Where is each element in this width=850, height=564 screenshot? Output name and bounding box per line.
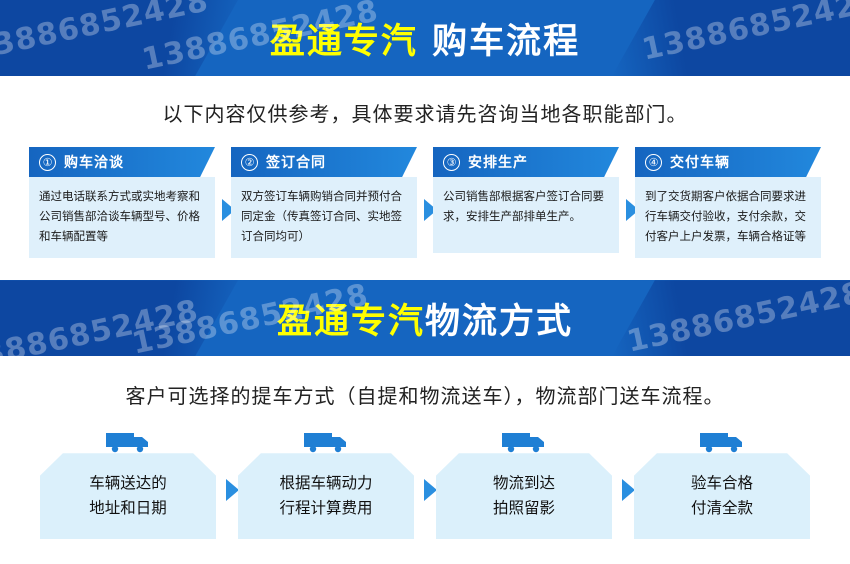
logistics-line-2: 付清全款 — [691, 496, 753, 522]
logistics-card: 验车合格 付清全款 — [634, 431, 810, 539]
step-body: 公司销售部根据客户签订合同要求，安排生产部排单生产。 — [433, 177, 619, 253]
purchase-steps-list: ① 购车洽谈 通过电话联系方式或实地考察和公司销售部洽谈车辆型号、价格和车辆配置… — [0, 147, 850, 258]
logistics-line-1: 验车合格 — [691, 471, 753, 497]
step-title: 安排生产 — [468, 152, 528, 172]
logistics-card-body: 验车合格 付清全款 — [634, 453, 810, 539]
step-body: 双方签订车辆购销合同并预付合同定金（传真签订合同、实地签订合同均可） — [231, 177, 417, 258]
banner-highlight-text: 盈通专汽 — [270, 22, 418, 62]
logistics-banner-title: 盈通专汽物流方式 — [277, 293, 573, 344]
step-body: 到了交货期客户依据合同要求进行车辆交付验收，支付余款，交付客户上户发票，车辆合格… — [635, 177, 821, 258]
logistics-line-1: 根据车辆动力 — [279, 471, 372, 497]
purchase-process-subtitle: 以下内容仅供参考，具体要求请先咨询当地各职能部门。 — [0, 76, 850, 147]
step-number-badge: ④ — [645, 154, 662, 171]
banner-rest-text: 购车流程 — [418, 22, 580, 62]
step-card: ④ 交付车辆 到了交货期客户依据合同要求进行车辆交付验收，支付余款，交付客户上户… — [635, 147, 821, 258]
logistics-line-1: 物流到达 — [493, 471, 555, 497]
banner-highlight-text: 盈通专汽 — [277, 302, 425, 342]
truck-icon — [238, 431, 414, 453]
step-header: ② 签订合同 — [231, 147, 417, 177]
logistics-card-body: 物流到达 拍照留影 — [436, 453, 612, 539]
step-card: ② 签订合同 双方签订车辆购销合同并预付合同定金（传真签订合同、实地签订合同均可… — [231, 147, 417, 258]
logistics-card-body: 车辆送达的 地址和日期 — [40, 453, 216, 539]
step-number-badge: ③ — [443, 154, 460, 171]
step-title: 交付车辆 — [670, 152, 730, 172]
step-header: ④ 交付车辆 — [635, 147, 821, 177]
step-header: ① 购车洽谈 — [29, 147, 215, 177]
banner-rest-text: 物流方式 — [425, 302, 573, 342]
step-header: ③ 安排生产 — [433, 147, 619, 177]
logistics-subtitle: 客户可选择的提车方式（自提和物流送车），物流部门送车流程。 — [0, 356, 850, 431]
step-card: ③ 安排生产 公司销售部根据客户签订合同要求，安排生产部排单生产。 — [433, 147, 619, 253]
page-root: 盈通专汽 购车流程 以下内容仅供参考，具体要求请先咨询当地各职能部门。 ① 购车… — [0, 0, 850, 564]
step-title: 签订合同 — [266, 152, 326, 172]
logistics-line-2: 拍照留影 — [493, 496, 555, 522]
logistics-card: 车辆送达的 地址和日期 — [40, 431, 216, 539]
logistics-steps-list: 车辆送达的 地址和日期 根据车辆动力 行程计算费用 — [0, 431, 850, 539]
step-body: 通过电话联系方式或实地考察和公司销售部洽谈车辆型号、价格和车辆配置等 — [29, 177, 215, 258]
logistics-line-1: 车辆送达的 — [89, 471, 167, 497]
logistics-card: 物流到达 拍照留影 — [436, 431, 612, 539]
logistics-card-body: 根据车辆动力 行程计算费用 — [238, 453, 414, 539]
logistics-line-2: 地址和日期 — [89, 496, 167, 522]
purchase-process-banner: 盈通专汽 购车流程 — [0, 0, 850, 76]
truck-icon — [40, 431, 216, 453]
purchase-process-banner-title: 盈通专汽 购车流程 — [270, 13, 580, 64]
logistics-card: 根据车辆动力 行程计算费用 — [238, 431, 414, 539]
logistics-banner: 盈通专汽物流方式 — [0, 280, 850, 356]
step-number-badge: ① — [39, 154, 56, 171]
truck-icon — [436, 431, 612, 453]
step-card: ① 购车洽谈 通过电话联系方式或实地考察和公司销售部洽谈车辆型号、价格和车辆配置… — [29, 147, 215, 258]
step-number-badge: ② — [241, 154, 258, 171]
truck-icon — [634, 431, 810, 453]
logistics-line-2: 行程计算费用 — [279, 496, 372, 522]
step-title: 购车洽谈 — [64, 152, 124, 172]
